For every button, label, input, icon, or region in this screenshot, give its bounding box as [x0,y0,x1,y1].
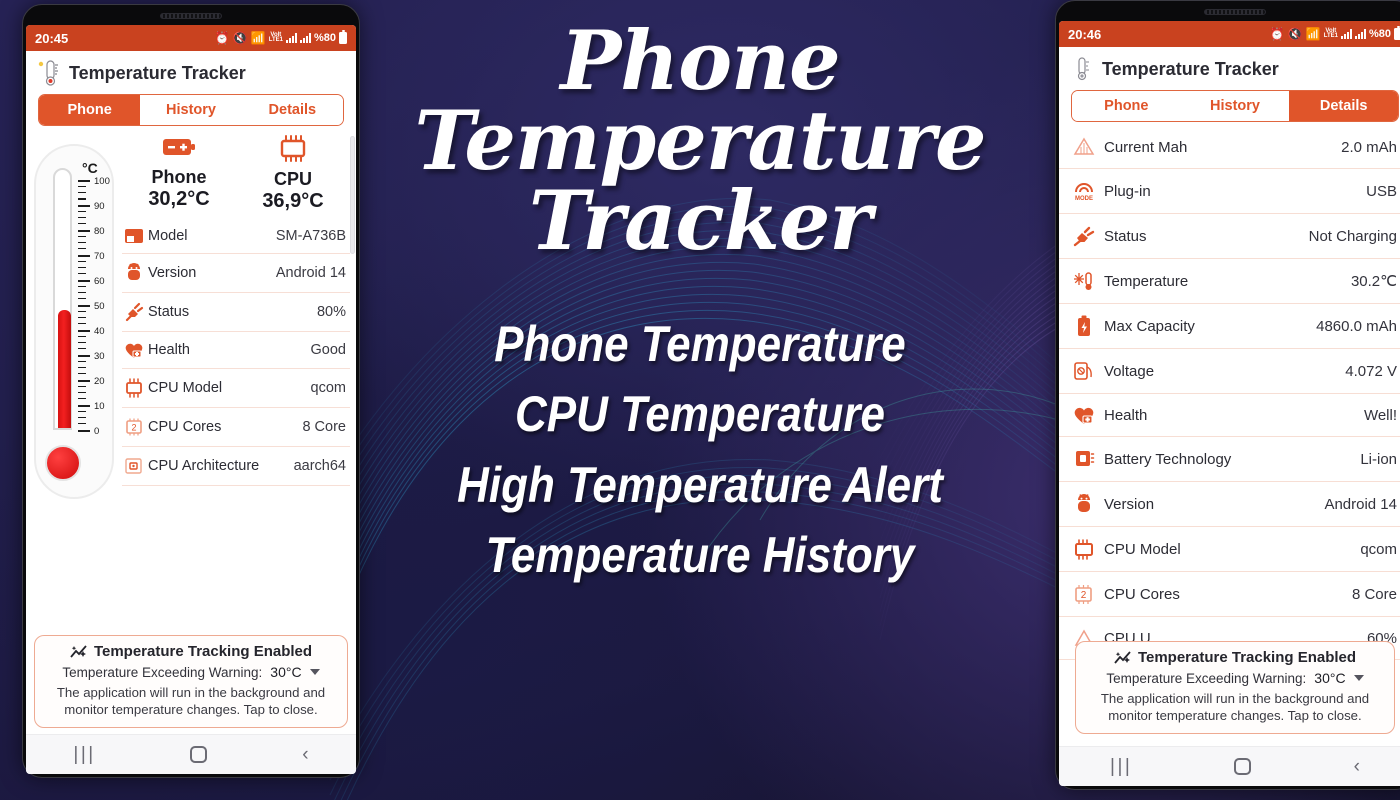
tick-label: 90 [94,201,105,212]
list-item-value: Well! [1364,407,1397,424]
thermometer-scale: 100 90 80 70 60 [78,180,128,430]
list-item[interactable]: Max Capacity 4860.0 mAh [1059,304,1400,349]
feature-item: Phone Temperature [411,309,988,380]
back-icon[interactable]: ‹ [302,745,308,764]
warning-threshold-row[interactable]: Temperature Exceeding Warning: 30°C [43,664,339,680]
plug-icon [122,302,146,322]
list-item[interactable]: CPU Model qcom [122,369,350,408]
status-bar: 20:45 ⏰ 🔇 📶 VoltLTE1 %80 [26,25,356,51]
tracking-icon [1114,650,1132,666]
status-bar-icons: ⏰ 🔇 📶 VoltLTE1 %80 [1270,28,1400,40]
toast-title: Temperature Tracking Enabled [94,643,312,660]
phone-content-left: °C 100 90 80 [26,130,356,635]
list-item[interactable]: Voltage 4.072 V [1059,349,1400,394]
list-item-label: Version [146,265,276,281]
status-bar-time: 20:45 [35,31,68,46]
tick-label: 60 [94,276,105,287]
warning-label: Temperature Exceeding Warning: [1106,671,1306,686]
alarm-icon: ⏰ [1270,28,1285,40]
android-nav-bar: ||| ‹ [1059,746,1400,786]
page-title: Temperature Tracker [69,63,246,84]
list-item[interactable]: Version Android 14 [1059,482,1400,527]
android-nav-bar: ||| ‹ [26,734,356,774]
phone-screen-right: 20:46 ⏰ 🔇 📶 VoltLTE1 %80 [1059,21,1400,786]
list-item-value: 30.2℃ [1351,272,1397,290]
list-item-label: Status [146,304,317,320]
phone-speaker [1204,9,1266,15]
list-item[interactable]: MODE Plug-in USB [1059,169,1400,214]
tracking-icon [70,644,88,660]
list-item-label: Model [146,228,276,244]
wifi-icon: 📶 [1306,28,1321,40]
list-item[interactable]: 2 CPU Cores 8 Core [1059,572,1400,617]
battery-percent: %80 [314,32,336,44]
alarm-icon: ⏰ [215,32,230,44]
list-item[interactable]: Model SM-A736B [122,219,350,254]
list-item-value: Android 14 [1324,496,1397,513]
cpu-arch-icon [122,456,146,476]
list-item-value: SM-A736B [276,228,346,244]
thermometer-unit: °C [82,160,98,176]
tab-history[interactable]: History [1181,91,1290,121]
list-item[interactable]: CPU Architecture aarch64 [122,447,350,486]
volte-icon: VoltLTE1 [1324,29,1338,39]
warning-value[interactable]: 30°C [270,664,301,680]
back-icon[interactable]: ‹ [1354,757,1360,776]
thermometer-gauge: °C 100 90 80 [34,144,114,499]
list-item-label: Current Mah [1099,139,1341,156]
info-column: Phone 30,2°C [122,130,356,635]
mute-icon: 🔇 [233,32,248,44]
list-item-label: Temperature [1099,273,1351,290]
page-title: Temperature Tracker [1102,59,1279,80]
gauge-row: Phone 30,2°C [122,130,350,213]
list-item[interactable]: CPU Model qcom [1059,527,1400,572]
phone-speaker [160,13,222,19]
max-capacity-icon [1069,315,1099,337]
gauge-value: 36,9°C [236,190,350,213]
list-item-value: qcom [1360,541,1397,558]
center-text-panel: Phone Temperature Tracker Phone Temperat… [372,0,1028,800]
list-item-label: Max Capacity [1099,318,1316,335]
temperature-icon [1069,270,1099,292]
warning-value[interactable]: 30°C [1314,670,1345,686]
phone-mockup-right: 20:46 ⏰ 🔇 📶 VoltLTE1 %80 [1055,0,1400,790]
tick-label: 0 [94,426,99,437]
cpu-icon [1069,538,1099,560]
tab-history[interactable]: History [140,95,241,125]
list-item-value: Li-ion [1360,451,1397,468]
headline-line-3: Tracker [372,182,1028,262]
gauge-cpu: CPU 36,9°C [236,134,350,213]
chevron-down-icon[interactable] [1354,675,1364,681]
feature-item: High Temperature Alert [411,450,988,521]
heart-health-icon [122,341,146,359]
cpu-cores-icon: 2 [122,417,146,437]
toast-description: The application will run in the backgrou… [1084,691,1386,724]
thermometer-icon [1071,56,1093,82]
list-item[interactable]: 2 CPU Cores 8 Core [122,408,350,447]
list-item-value: Android 14 [276,265,346,281]
list-item-label: CPU Model [146,380,311,396]
voltage-icon [1069,360,1099,382]
tick-label: 100 [94,176,110,187]
chevron-down-icon[interactable] [310,669,320,675]
phone-screen-left: 20:45 ⏰ 🔇 📶 VoltLTE1 %80 [26,25,356,774]
list-item[interactable]: Current Mah 2.0 mAh [1059,126,1400,169]
list-item-value: 4860.0 mAh [1316,318,1397,335]
warning-threshold-row[interactable]: Temperature Exceeding Warning: 30°C [1084,670,1386,686]
recents-icon[interactable]: ||| [73,745,95,764]
toast-title: Temperature Tracking Enabled [1138,649,1356,666]
toast-description: The application will run in the backgrou… [43,685,339,718]
recents-icon[interactable]: ||| [1110,757,1132,776]
thermometer-tube [53,168,72,430]
list-item-value: aarch64 [294,458,346,474]
phone-content-right: Current Mah 2.0 mAh MODE Plug-in USB [1059,126,1400,746]
feature-list: Phone Temperature CPU Temperature High T… [372,309,1028,591]
mute-icon: 🔇 [1288,28,1303,40]
feature-item: CPU Temperature [411,379,988,450]
svg-text:2: 2 [1081,590,1087,601]
warning-label: Temperature Exceeding Warning: [62,665,262,680]
battery-percent: %80 [1369,28,1391,40]
device-model-icon [122,228,146,244]
list-item-value: qcom [311,380,346,396]
thermometer-icon [38,60,60,86]
tracking-toast[interactable]: Temperature Tracking Enabled Temperature… [34,635,348,728]
tab-phone[interactable]: Phone [39,95,140,125]
thermometer-bulb [45,445,81,481]
app-header: Temperature Tracker [1059,47,1400,88]
volte-icon: VoltLTE1 [269,33,283,43]
list-item-label: CPU Model [1099,541,1360,558]
heart-health-icon [1069,405,1099,425]
home-icon[interactable] [1234,758,1251,775]
status-bar: 20:46 ⏰ 🔇 📶 VoltLTE1 %80 [1059,21,1400,47]
detail-list-left: Model SM-A736B [122,219,350,486]
signal-icon [1355,29,1366,39]
list-item[interactable]: Status 80% [122,293,350,332]
tick-label: 80 [94,226,105,237]
wifi-icon: 📶 [251,32,266,44]
battery-tech-icon [1069,448,1099,470]
list-item-label: Voltage [1099,363,1345,380]
gauge-value: 30,2°C [122,188,236,211]
current-mah-icon [1069,137,1099,157]
tab-phone[interactable]: Phone [1072,91,1181,121]
list-item-value: 80% [317,304,346,320]
svg-text:MODE: MODE [1075,196,1093,202]
gauge-label: Phone [122,167,236,188]
tracking-toast[interactable]: Temperature Tracking Enabled Temperature… [1075,641,1395,734]
status-bar-time: 20:46 [1068,27,1101,42]
svg-text:2: 2 [131,423,136,433]
list-item-value: 2.0 mAh [1341,139,1397,156]
list-item-value: 8 Core [1352,586,1397,603]
list-item[interactable]: Health Good [122,332,350,369]
list-item[interactable]: Battery Technology Li-ion [1059,437,1400,482]
list-item-value: USB [1366,183,1397,200]
plug-icon [1069,225,1099,247]
feature-item: Temperature History [411,520,988,591]
status-bar-icons: ⏰ 🔇 📶 VoltLTE1 %80 [215,32,347,44]
thermometer-mercury [58,310,71,428]
android-icon [1069,493,1099,515]
signal-icon [300,33,311,43]
plug-mode-icon: MODE [1069,180,1099,202]
battery-icon [162,134,196,160]
list-item-label: Plug-in [1099,183,1366,200]
gauge-phone: Phone 30,2°C [122,134,236,213]
list-item-value: 8 Core [302,419,346,435]
phone-mockup-left: 20:45 ⏰ 🔇 📶 VoltLTE1 %80 [22,4,360,778]
headline-line-2: Temperature [372,102,1028,182]
tab-details[interactable]: Details [1289,91,1398,121]
toast-title-row: Temperature Tracking Enabled [1084,649,1386,666]
list-item-value: Not Charging [1309,228,1397,245]
cpu-icon [122,378,146,398]
app-header: Temperature Tracker [26,51,356,92]
cpu-cores-icon: 2 [1069,583,1099,605]
tick-label: 30 [94,351,105,362]
tab-details[interactable]: Details [242,95,343,125]
android-icon [122,263,146,283]
tick-label: 10 [94,401,105,412]
list-item-label: CPU Cores [146,419,302,435]
gauge-label: CPU [236,169,350,190]
toast-title-row: Temperature Tracking Enabled [43,643,339,660]
list-item-label: CPU Architecture [146,458,294,474]
list-item[interactable]: Version Android 14 [122,254,350,293]
list-item-value: 4.072 V [1345,363,1397,380]
list-item-label: Battery Technology [1099,451,1360,468]
tick-label: 50 [94,301,105,312]
list-item[interactable]: Health Well! [1059,394,1400,437]
promo-graphic: Phone Temperature Tracker Phone Temperat… [0,0,1400,800]
tab-bar: Phone History Details [1071,90,1399,122]
battery-icon [1394,28,1400,40]
tick-label: 20 [94,376,105,387]
signal-icon [1341,29,1352,39]
list-item-value: Good [311,342,346,358]
cpu-icon [276,134,310,162]
tick-label: 70 [94,251,105,262]
list-item[interactable]: Temperature 30.2℃ [1059,259,1400,304]
thermometer-column: °C 100 90 80 [26,130,122,635]
headline-line-1: Phone [372,22,1028,102]
list-item[interactable]: Status Not Charging [1059,214,1400,259]
headline: Phone Temperature Tracker [372,22,1028,263]
scrollbar-thumb[interactable] [350,136,355,254]
signal-icon [286,33,297,43]
tab-bar: Phone History Details [38,94,344,126]
list-item-label: Status [1099,228,1309,245]
battery-icon [339,32,347,44]
tick-label: 40 [94,326,105,337]
list-item-label: Health [1099,407,1364,424]
list-item-label: Health [146,342,311,358]
list-item-label: Version [1099,496,1324,513]
list-item-label: CPU Cores [1099,586,1352,603]
home-icon[interactable] [190,746,207,763]
